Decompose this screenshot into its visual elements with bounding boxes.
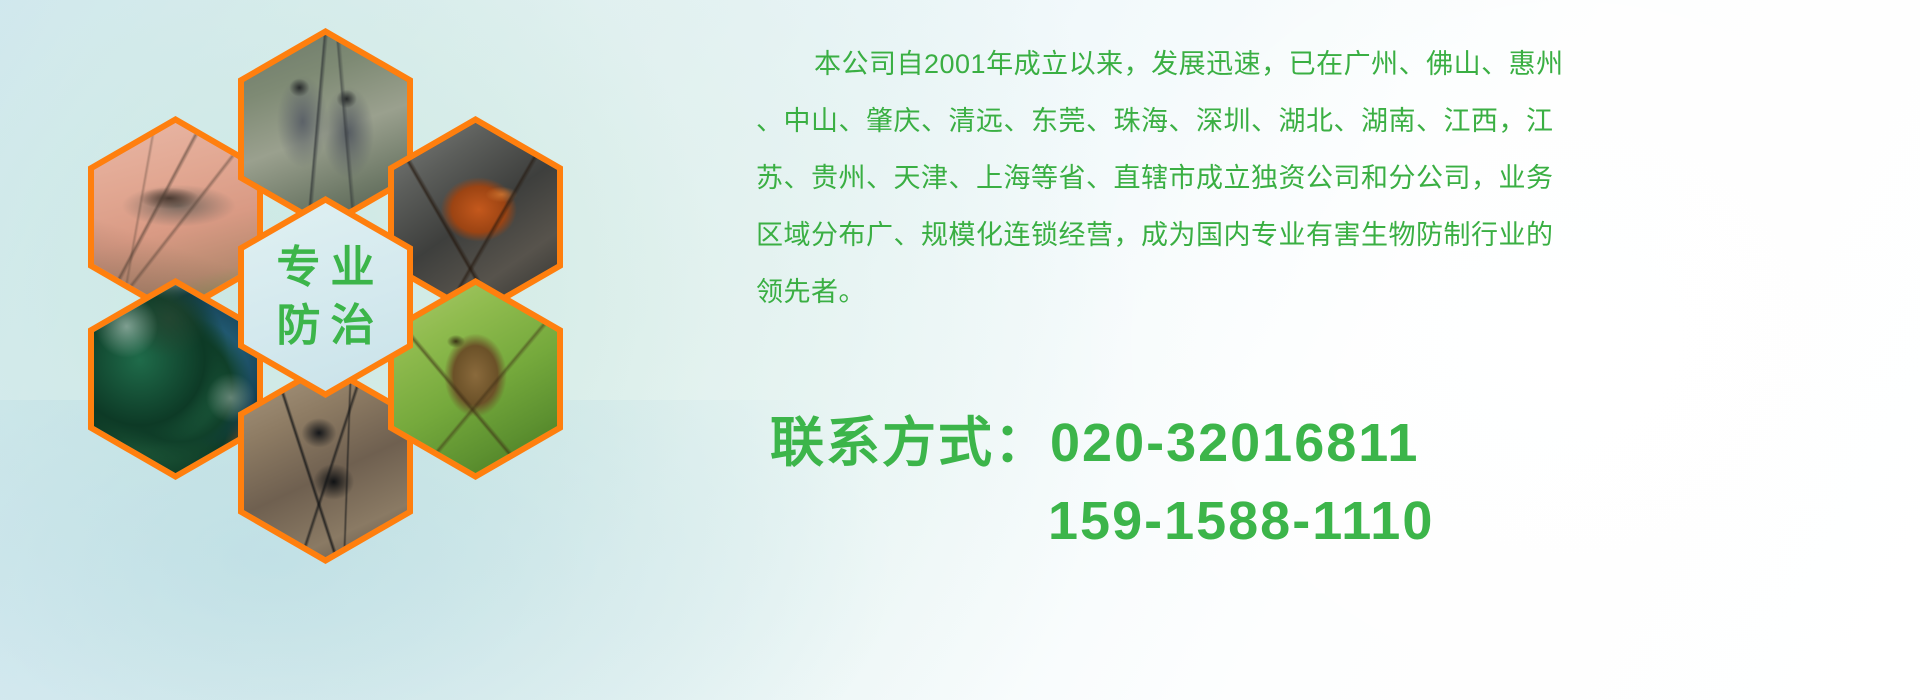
flies-photo bbox=[88, 278, 263, 480]
logo-text-line-2: 防治 bbox=[267, 304, 385, 348]
flies-image bbox=[94, 285, 257, 473]
contact-phone-primary[interactable]: 联系方式：020-32016811 bbox=[770, 404, 1830, 482]
description-line-4: 区域分布广、规模化连锁经营，成为国内专业有害生物防制行业的 bbox=[756, 207, 1816, 264]
contact-block: 联系方式：020-32016811 159-1588-1110 bbox=[770, 404, 1830, 560]
flies-photo-frame bbox=[94, 285, 257, 473]
description-line-1: 本公司自2001年成立以来，发展迅速，已在广州、佛山、惠州 bbox=[756, 36, 1816, 93]
description-line-3: 苏、贵州、天津、上海等省、直辖市成立独资公司和分公司，业务 bbox=[756, 150, 1816, 207]
honeycomb-photo-cluster: 专业 防治 bbox=[88, 10, 588, 570]
description-line-5: 领先者。 bbox=[756, 264, 1816, 321]
rats-image bbox=[244, 35, 407, 223]
logo-hexagon-frame: 专业 防治 bbox=[244, 203, 407, 391]
logo-text-line-1: 专业 bbox=[267, 246, 385, 290]
contact-phone-mobile[interactable]: 159-1588-1110 bbox=[770, 482, 1830, 560]
stinkbug-image bbox=[394, 285, 557, 473]
stinkbug-photo bbox=[388, 278, 563, 480]
company-description: 本公司自2001年成立以来，发展迅速，已在广州、佛山、惠州 、中山、肇庆、清远、… bbox=[756, 36, 1816, 321]
rats-photo-frame bbox=[244, 35, 407, 223]
stinkbug-photo-frame bbox=[394, 285, 557, 473]
promo-banner: 专业 防治 本公司自2001年成立以来，发展迅速，已在广州、佛山、惠州 、中山、… bbox=[0, 0, 1920, 700]
description-line-2: 、中山、肇庆、清远、东莞、珠海、深圳、湖北、湖南、江西，江 bbox=[756, 93, 1816, 150]
logo-hexagon: 专业 防治 bbox=[238, 196, 413, 398]
logo-text: 专业 防治 bbox=[244, 203, 407, 391]
